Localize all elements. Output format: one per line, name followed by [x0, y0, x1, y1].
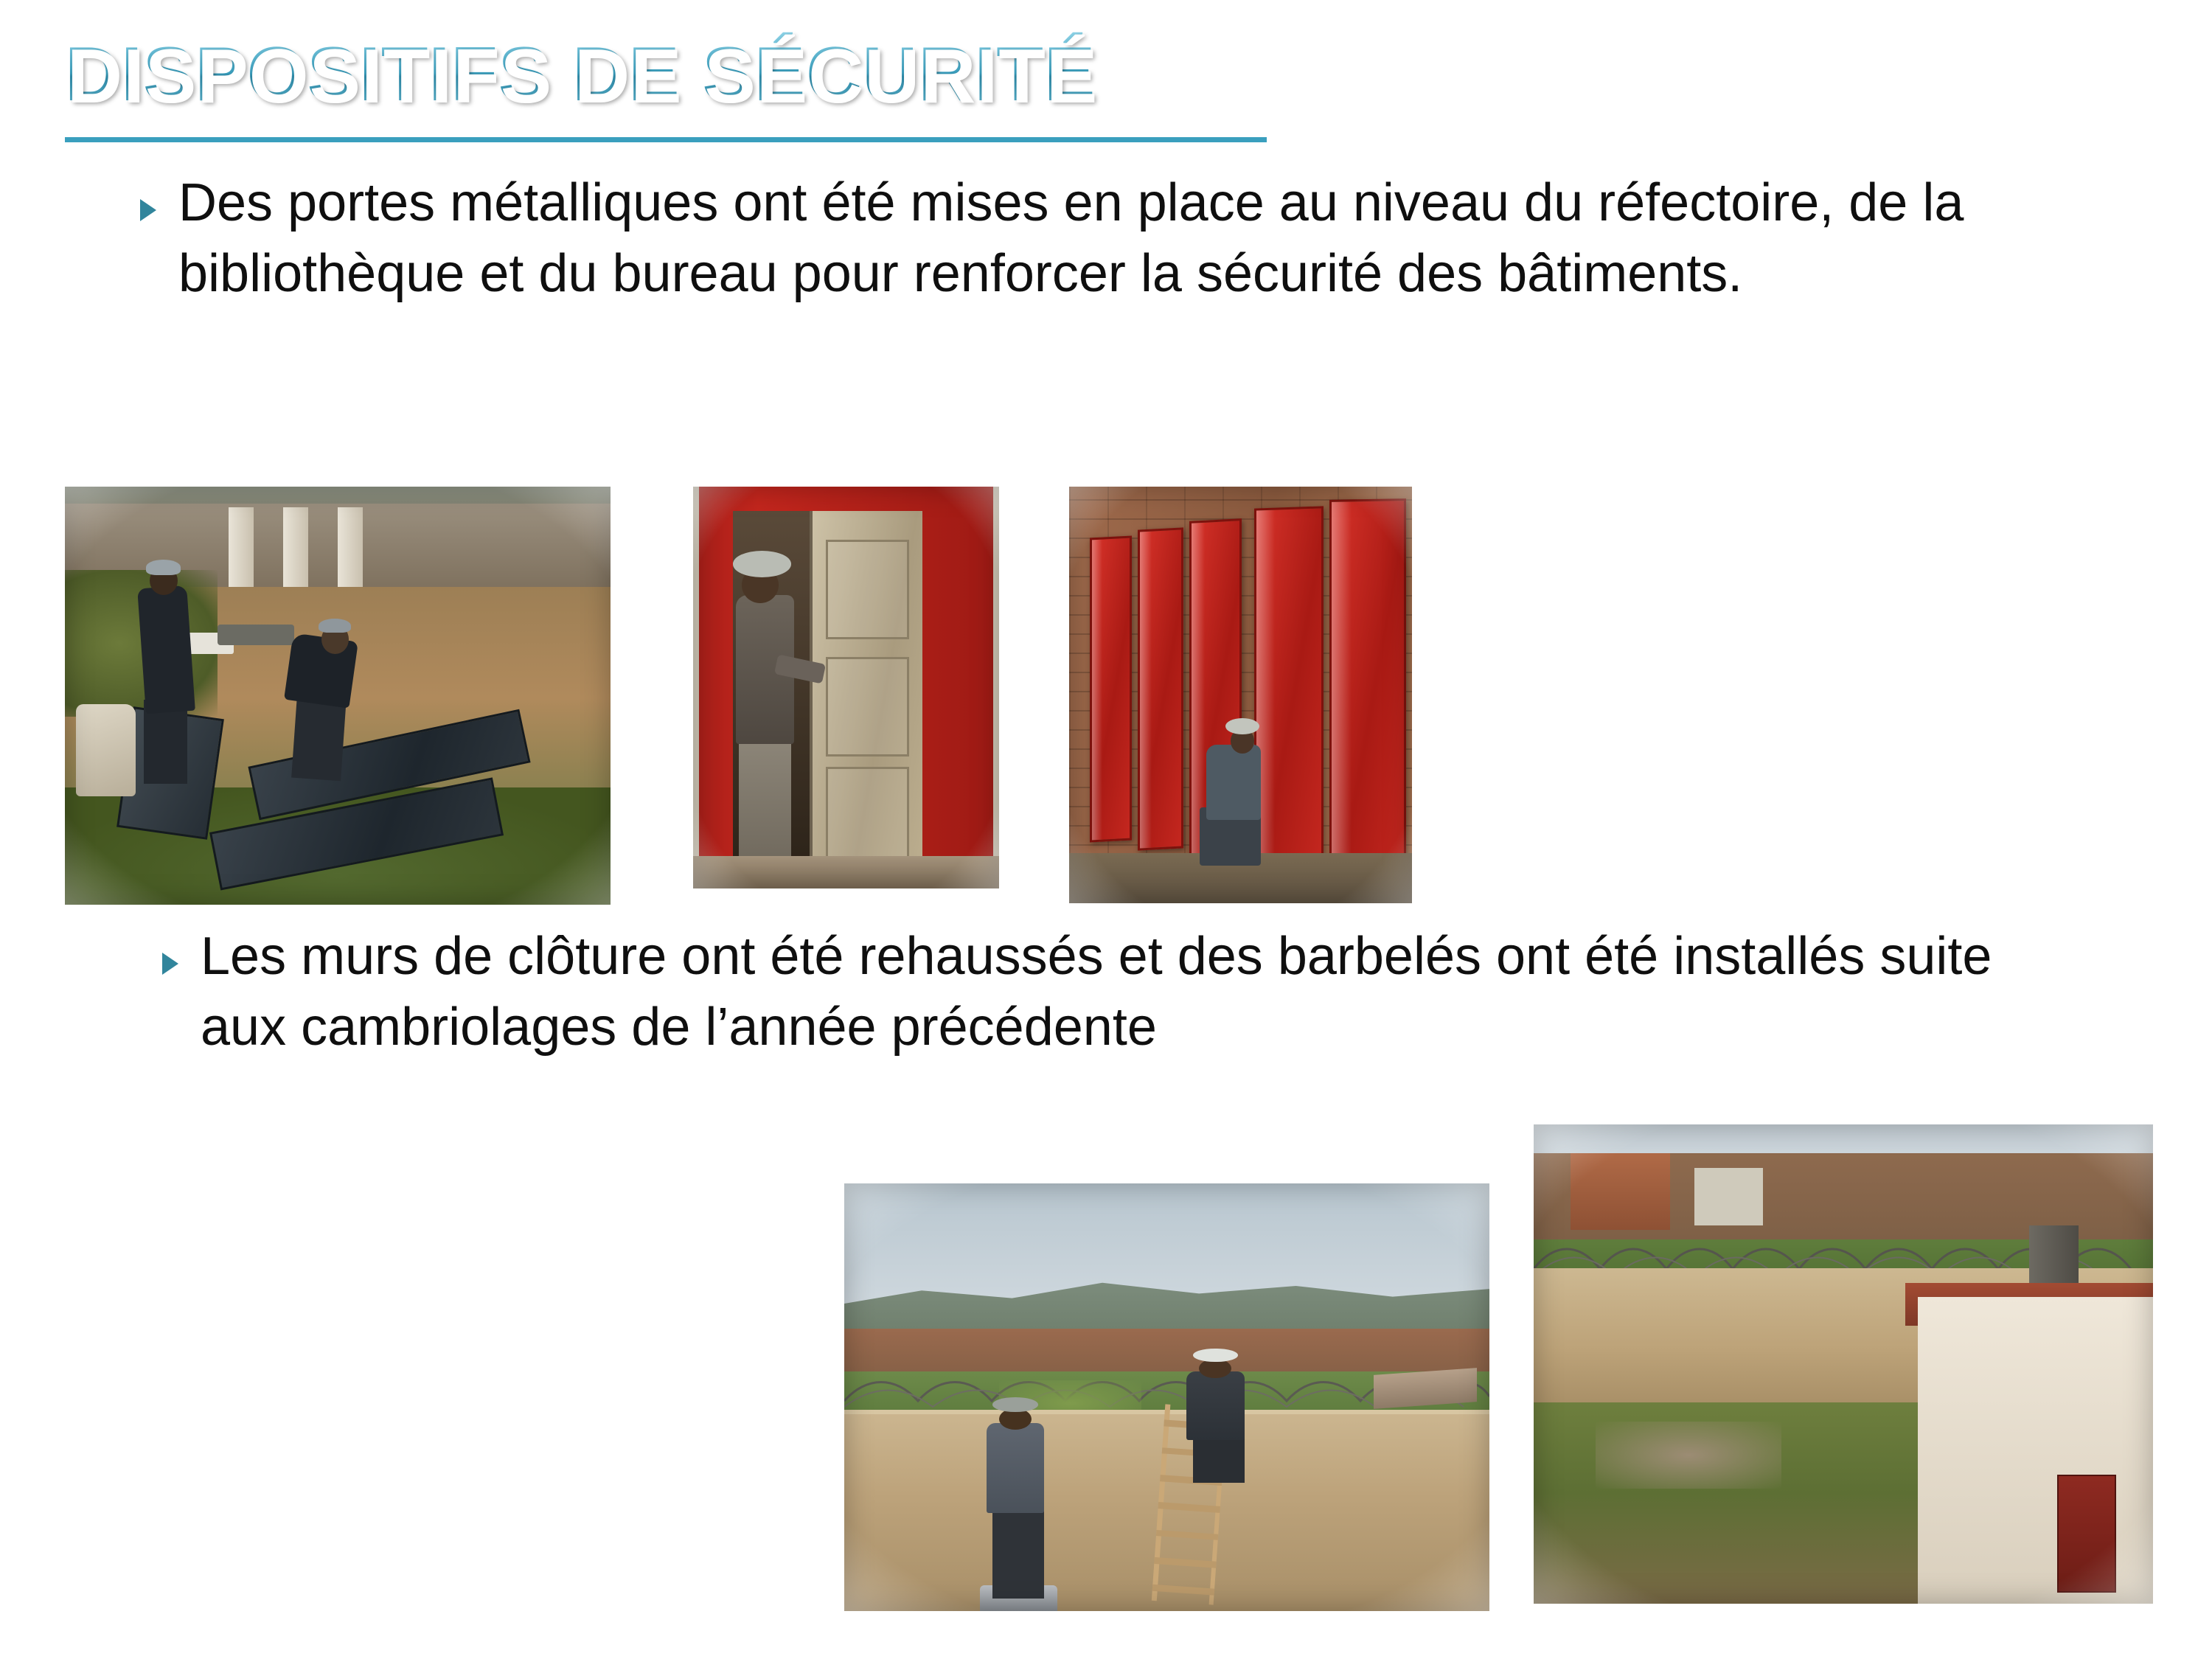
- floor-band: [693, 856, 999, 888]
- door-panel-section-1: [826, 540, 910, 639]
- ladder-rung: [1158, 1502, 1220, 1512]
- page-title: DISPOSITIFS DE SÉCURITÉ: [65, 31, 1096, 119]
- crouching-worker-hat: [1225, 718, 1260, 735]
- red-door-2: [1138, 527, 1183, 851]
- worker-on-drum-body: [987, 1423, 1045, 1513]
- crouching-worker-body: [1206, 745, 1261, 820]
- door-2-highlight: [1140, 531, 1152, 848]
- photo-man-installing-door-in-red-frame: [693, 487, 999, 888]
- red-door-5: [1329, 498, 1406, 879]
- door-3-highlight: [1192, 523, 1205, 857]
- ladder-rung: [1152, 1585, 1214, 1595]
- photo-compound-wall-with-razor-wire: [1534, 1124, 2153, 1604]
- photo-red-metal-doors-against-brick-wall: [1069, 487, 1412, 903]
- photo-5-content: [1534, 1124, 2153, 1604]
- worker-1-hat: [146, 560, 181, 574]
- building-facade: [1918, 1297, 2153, 1604]
- door-panel-section-2: [826, 657, 910, 757]
- worker-on-drum-legs: [992, 1504, 1044, 1599]
- bullet-item-1-text: Des portes métalliques ont été mises en …: [178, 168, 2110, 310]
- photo-1-content: [65, 487, 611, 905]
- door-panel-section-3: [826, 767, 910, 866]
- photo-2-content: [693, 487, 999, 888]
- photo-workers-metal-door-panels-ground: [65, 487, 611, 905]
- brick-house: [1571, 1153, 1669, 1230]
- triangle-bullet-icon: [131, 193, 165, 227]
- door-panel: [810, 511, 922, 877]
- bullet-item-2: Les murs de clôture ont été rehaussés et…: [153, 922, 2144, 1063]
- triangle-bullet-icon: [153, 947, 187, 981]
- white-house: [1694, 1168, 1762, 1225]
- ladder-rung: [1156, 1529, 1219, 1540]
- cement-sack: [76, 704, 136, 796]
- title-underline: [65, 137, 1267, 142]
- debris-pile: [218, 625, 294, 645]
- rubble-pile: [1596, 1422, 1781, 1489]
- worker-on-ladder-body: [1186, 1371, 1245, 1440]
- bullet-item-2-text: Les murs de clôture ont été rehaussés et…: [201, 922, 2088, 1063]
- red-building-door: [2057, 1475, 2116, 1593]
- bullet-item-1: Des portes métalliques ont été mises en …: [131, 168, 2137, 310]
- worker-1-body: [137, 585, 195, 714]
- worker-2-hat: [319, 619, 351, 633]
- door-5-highlight: [1332, 501, 1352, 877]
- ladder-rung: [1154, 1557, 1217, 1568]
- red-door-1: [1090, 535, 1132, 842]
- red-door-4: [1254, 507, 1324, 872]
- photo-4-content: [844, 1183, 1489, 1611]
- door-1-highlight: [1092, 539, 1102, 840]
- worker-legs: [739, 736, 791, 869]
- photo-workers-raising-wall-with-barbed-wire: [844, 1183, 1489, 1611]
- worker-on-drum-hat: [992, 1397, 1037, 1412]
- worker-hat: [733, 551, 791, 577]
- worker-2-legs: [291, 694, 346, 781]
- photo-3-content: [1069, 487, 1412, 903]
